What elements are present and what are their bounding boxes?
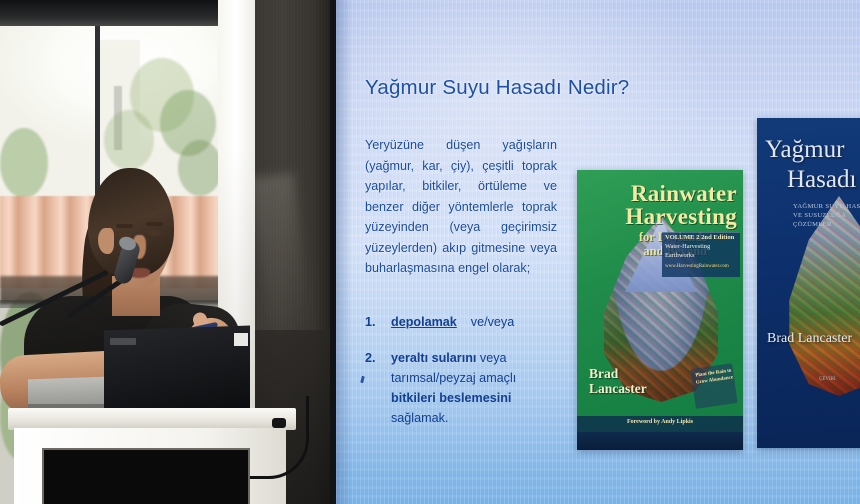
list-item-number: 1. bbox=[365, 312, 391, 332]
screenshot-root: Yağmur Suyu Hasadı Nedir? Yeryüzüne düşe… bbox=[0, 0, 860, 504]
book-volume-label: VOLUME 2 2nd Edition bbox=[665, 234, 737, 241]
foliage-leaf bbox=[0, 128, 48, 198]
foliage-leaf bbox=[178, 140, 222, 196]
speaker-eyebrow bbox=[116, 224, 133, 228]
screen-edge-vignette bbox=[336, 0, 352, 504]
foliage-leaf bbox=[104, 110, 154, 170]
book-cover-yagmur-suyu-hasadi: Yağmur Hasadı YAĞMUR SUYU HASADI VE SUSU… bbox=[757, 118, 860, 448]
book-title: Rainwater Harvesting bbox=[583, 182, 737, 228]
podium-confidence-monitor[interactable] bbox=[42, 448, 250, 504]
speaker-eyebrow bbox=[146, 222, 163, 226]
book-title-line1: Rainwater bbox=[631, 181, 737, 206]
window-header-beam bbox=[0, 0, 222, 26]
book-cover-rainwater-harvesting: Rainwater Harvesting for Drylands and Be… bbox=[577, 170, 743, 450]
list-item-line3: bitkileri beslemesini bbox=[391, 391, 511, 405]
speaker-eye bbox=[148, 230, 161, 236]
cable-connector bbox=[272, 418, 286, 428]
book-author: Brad Lancaster bbox=[589, 366, 675, 396]
book-url: www.HarvestingRainwater.com bbox=[665, 264, 737, 269]
laptop-logo bbox=[110, 338, 136, 345]
list-item-bold-lead: yeraltı sularını bbox=[391, 351, 476, 365]
book2-title-line1: Yağmur bbox=[765, 132, 860, 167]
list-item-line4: sağlamak. bbox=[391, 411, 448, 425]
book2-footer: ÇEVİRİ bbox=[819, 376, 860, 384]
book2-author: Brad Lancaster bbox=[767, 330, 860, 348]
room-left-half bbox=[0, 0, 340, 504]
laptop-sticker bbox=[234, 333, 248, 346]
list-item: 2. yeraltı sularını veya tarımsal/peyzaj… bbox=[365, 348, 580, 428]
slide-title: Yağmur Suyu Hasadı Nedir? bbox=[365, 76, 665, 100]
book-bottom-band bbox=[577, 432, 743, 450]
book-volume-subtitle: Water-Harvesting Earthworks bbox=[665, 243, 737, 260]
slide-body-paragraph: Yeryüzüne düşen yağışların (yağmur, kar,… bbox=[365, 135, 557, 279]
projection-screen: Yağmur Suyu Hasadı Nedir? Yeryüzüne düşe… bbox=[336, 0, 860, 504]
book2-subtitle: YAĞMUR SUYU HASADI VE SUSUZLUĞA ÇÖZÜMLER bbox=[793, 202, 860, 229]
list-item-emphasis: depolamak bbox=[391, 315, 457, 329]
book-foreword-text: Foreword by Andy Lipkis bbox=[577, 419, 743, 425]
book2-title-line2: Hasadı bbox=[787, 166, 860, 194]
list-item-text: depolamak ve/veya bbox=[391, 312, 580, 332]
list-item-line2: tarımsal/peyzaj amaçlı bbox=[391, 371, 516, 385]
book-title-line2: Harvesting bbox=[625, 204, 737, 229]
list-item: 1. depolamak ve/veya bbox=[365, 312, 580, 332]
list-item-number: 2. bbox=[365, 348, 391, 428]
list-item-rest: veya bbox=[480, 351, 507, 365]
list-item-text: yeraltı sularını veya tarımsal/peyzaj am… bbox=[391, 348, 580, 428]
list-item-rest: ve/veya bbox=[471, 315, 514, 329]
slide-numbered-list: 1. depolamak ve/veya 2. yeraltı sularını… bbox=[365, 312, 580, 444]
speaker-ear bbox=[98, 228, 114, 254]
